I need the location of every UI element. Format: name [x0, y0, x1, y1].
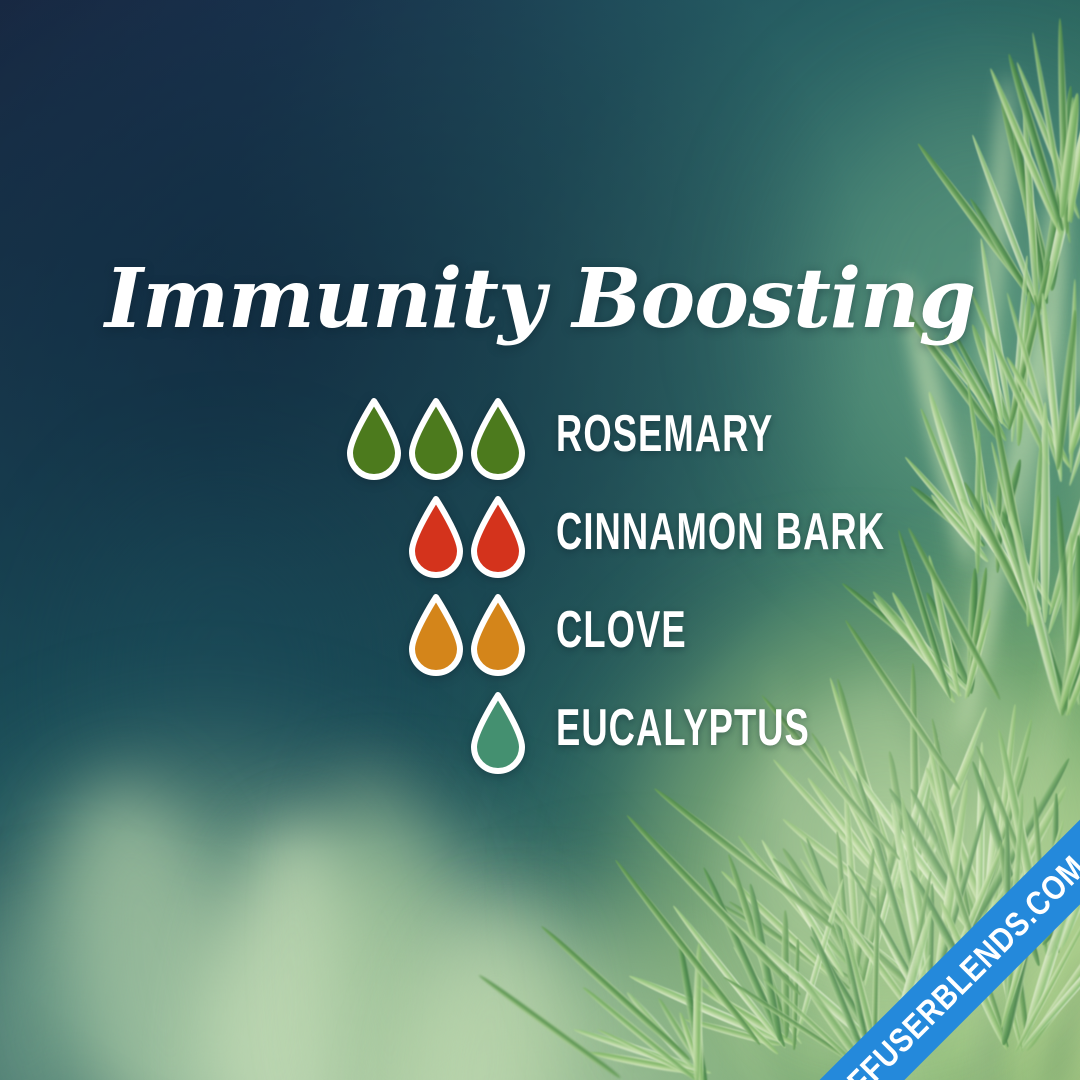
- ingredient-name: CINNAMON BARK: [556, 504, 885, 560]
- blend-row: CINNAMON BARK: [0, 496, 1080, 594]
- blend-row: CLOVE: [0, 594, 1080, 692]
- oil-drop-icon: [468, 398, 528, 482]
- drop-count-group: [0, 398, 528, 486]
- oil-drop-icon: [468, 496, 528, 580]
- diffuser-blend-card: Immunity Boosting ROSEMARYCINNAMON BARKC…: [0, 0, 1080, 1080]
- blend-row: ROSEMARY: [0, 398, 1080, 496]
- drop-count-group: [0, 594, 528, 682]
- oil-drop-icon: [344, 398, 404, 482]
- drop-count-group: [0, 692, 528, 780]
- ingredient-name: CLOVE: [556, 602, 687, 658]
- drop-count-group: [0, 496, 528, 584]
- oil-drop-icon: [406, 398, 466, 482]
- blend-ingredient-list: ROSEMARYCINNAMON BARKCLOVEEUCALYPTUS: [0, 398, 1080, 790]
- page-title: Immunity Boosting: [0, 258, 1080, 340]
- oil-drop-icon: [468, 692, 528, 776]
- ingredient-name: EUCALYPTUS: [556, 700, 810, 756]
- oil-drop-icon: [468, 594, 528, 678]
- blend-row: EUCALYPTUS: [0, 692, 1080, 790]
- ingredient-name: ROSEMARY: [556, 406, 773, 462]
- oil-drop-icon: [406, 594, 466, 678]
- oil-drop-icon: [406, 496, 466, 580]
